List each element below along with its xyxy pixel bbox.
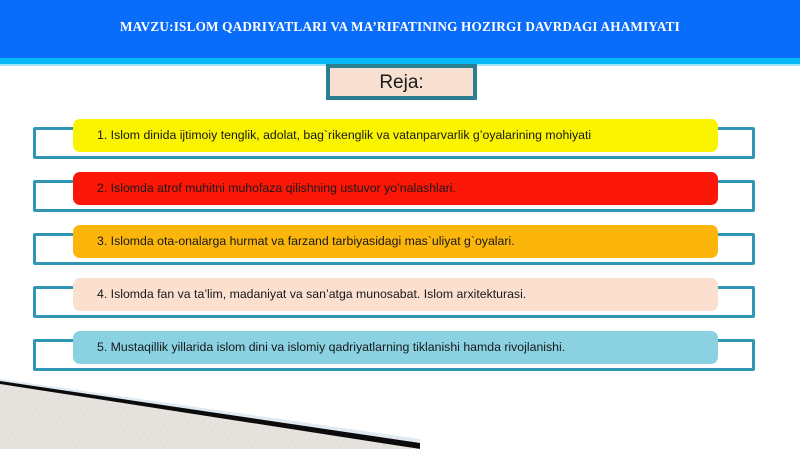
list-item[interactable]: 2. Islomda atrof muhitni muhofaza qilish…: [33, 172, 755, 212]
list-item-bar: 2. Islomda atrof muhitni muhofaza qilish…: [73, 172, 718, 205]
agenda-list: 1. Islom dinida ijtimoiy tenglik, adolat…: [0, 0, 800, 449]
list-item[interactable]: 5. Mustaqillik yillarida islom dini va i…: [33, 331, 755, 371]
slide-canvas: MAVZU:ISLOM QADRIYATLARI VA MA’RIFATININ…: [0, 0, 800, 449]
list-item[interactable]: 1. Islom dinida ijtimoiy tenglik, adolat…: [33, 119, 755, 159]
list-item-bar: 3. Islomda ota-onalarga hurmat va farzan…: [73, 225, 718, 258]
list-item-label: 3. Islomda ota-onalarga hurmat va farzan…: [97, 234, 515, 249]
list-item-bar: 4. Islomda fan va ta’lim, madaniyat va s…: [73, 278, 718, 311]
list-item-label: 2. Islomda atrof muhitni muhofaza qilish…: [97, 181, 456, 196]
list-item-bar: 5. Mustaqillik yillarida islom dini va i…: [73, 331, 718, 364]
list-item-label: 1. Islom dinida ijtimoiy tenglik, adolat…: [97, 128, 591, 143]
list-item-label: 4. Islomda fan va ta’lim, madaniyat va s…: [97, 287, 526, 302]
list-item[interactable]: 3. Islomda ota-onalarga hurmat va farzan…: [33, 225, 755, 265]
list-item-bar: 1. Islom dinida ijtimoiy tenglik, adolat…: [73, 119, 718, 152]
list-item-label: 5. Mustaqillik yillarida islom dini va i…: [97, 340, 565, 355]
list-item[interactable]: 4. Islomda fan va ta’lim, madaniyat va s…: [33, 278, 755, 318]
